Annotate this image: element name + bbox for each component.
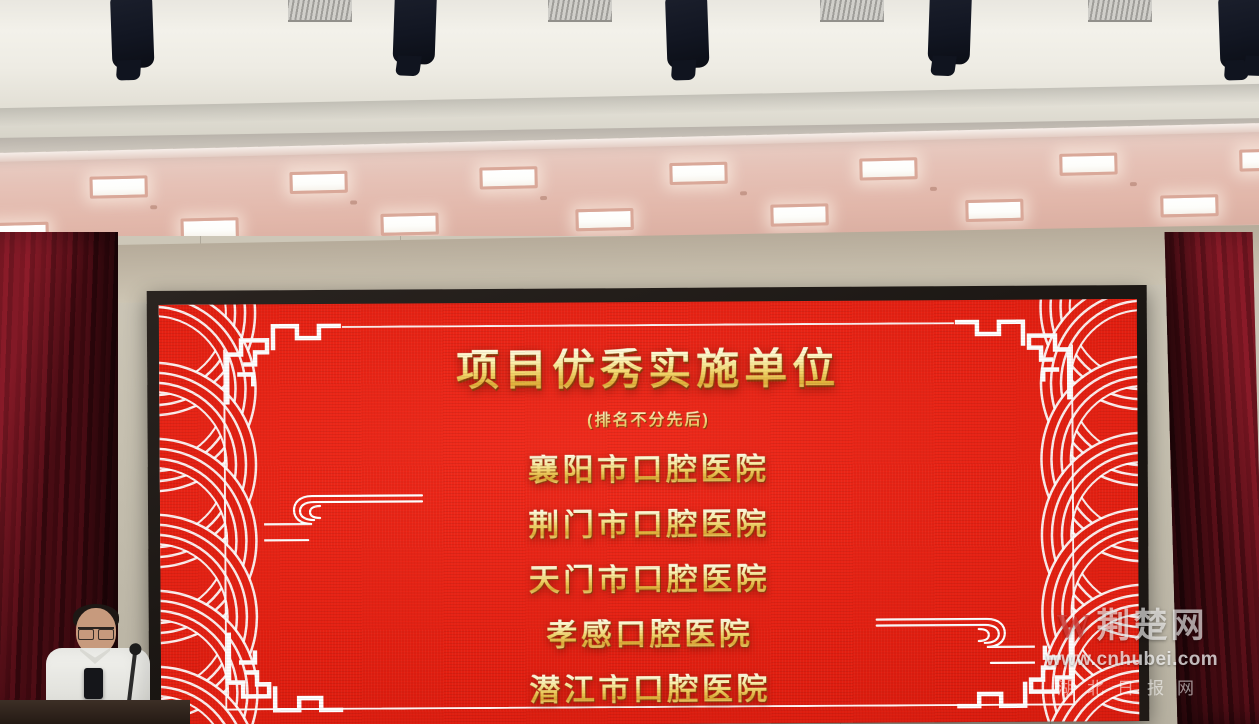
screen-subtitle: (排名不分先后) (159, 403, 1137, 433)
stage-spotlight (393, 0, 437, 65)
ceiling-light-panel (1160, 194, 1219, 217)
ceiling-light-panel (965, 199, 1024, 222)
air-vent (288, 0, 352, 22)
watermark-mark-icon: W (1057, 608, 1094, 645)
award-unit-item: 天门市口腔医院 (160, 561, 1138, 598)
conference-hall-photo: 项目优秀实施单位 (排名不分先后) 襄阳市口腔医院荆门市口腔医院天门市口腔医院孝… (0, 0, 1259, 724)
award-unit-item: 襄阳市口腔医院 (160, 451, 1138, 488)
soffit-fixture (740, 191, 747, 195)
ceiling-light-panel (89, 175, 148, 198)
eyeglasses-icon (78, 627, 114, 636)
watermark-url: www.cnhubei.com (1019, 649, 1245, 671)
ceiling-light-panel (289, 171, 348, 194)
led-screen-bezel: 项目优秀实施单位 (排名不分先后) 襄阳市口腔医院荆门市口腔医院天门市口腔医院孝… (147, 285, 1150, 724)
watermark: W荆楚网 www.cnhubei.com 湖北日报网 (1019, 598, 1245, 699)
soffit-fixture (540, 196, 547, 200)
air-vent (548, 0, 612, 22)
ceiling-light-panel (479, 166, 538, 189)
watermark-subtitle: 湖北日报网 (1019, 674, 1245, 699)
screen-content: 项目优秀实施单位 (排名不分先后) 襄阳市口腔医院荆门市口腔医院天门市口腔医院孝… (159, 345, 1139, 724)
soffit-fixture (350, 200, 357, 204)
air-vent (1088, 0, 1152, 22)
award-unit-item: 潜江市口腔医院 (161, 671, 1139, 708)
ceiling-light-panel (380, 213, 439, 236)
watermark-logo: W荆楚网 (1019, 598, 1245, 647)
air-vent (820, 0, 884, 22)
watermark-logo-text: 荆楚网 (1097, 608, 1208, 645)
ceiling-light-panel (1239, 148, 1259, 171)
mobile-phone-icon (84, 668, 103, 699)
ceiling-light-panel (575, 208, 634, 231)
stage-spotlight (1241, 0, 1259, 65)
soffit-fixture (150, 205, 157, 209)
soffit-fixture (1130, 182, 1137, 186)
stage-spotlight (928, 0, 972, 65)
ceiling (0, 0, 1259, 140)
led-screen: 项目优秀实施单位 (排名不分先后) 襄阳市口腔医院荆门市口腔医院天门市口腔医院孝… (159, 299, 1140, 724)
stage-spotlight (110, 0, 154, 69)
ceiling-light-panel (669, 162, 728, 185)
screen-title: 项目优秀实施单位 (159, 345, 1137, 397)
stage-spotlight (665, 0, 709, 69)
ceiling-light-panel (770, 203, 829, 226)
soffit-fixture (930, 187, 937, 191)
podium (0, 700, 190, 724)
ceiling-light-panel (859, 157, 918, 180)
award-unit-list: 襄阳市口腔医院荆门市口腔医院天门市口腔医院孝感口腔医院潜江市口腔医院 (160, 451, 1140, 708)
award-unit-item: 孝感口腔医院 (161, 616, 1139, 653)
award-unit-item: 荆门市口腔医院 (160, 506, 1138, 543)
ceiling-light-panel (1059, 153, 1118, 176)
